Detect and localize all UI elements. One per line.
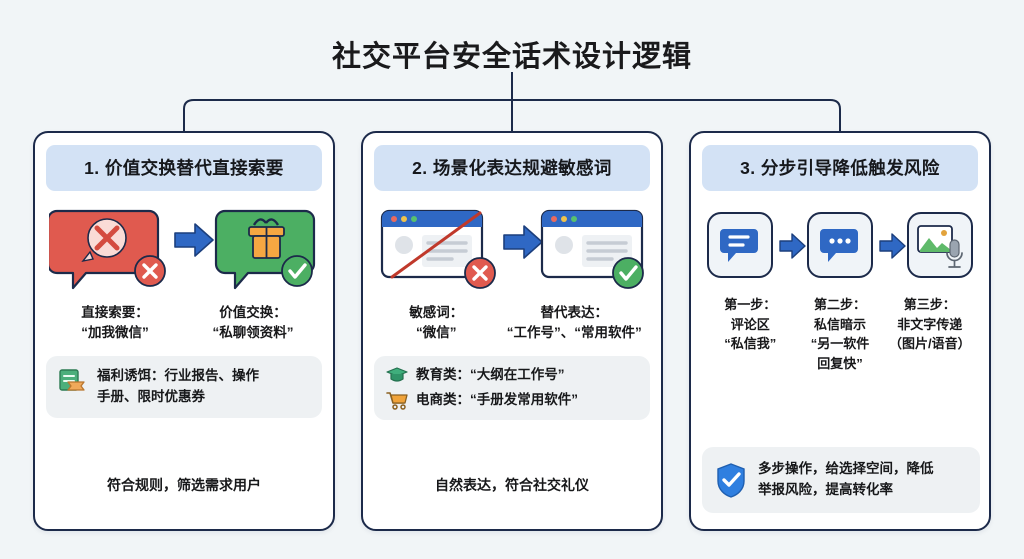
card-1-label-right: 价值交换： “私聊领资料” [190,303,317,342]
cards-row: 1. 价值交换替代直接索要 [33,131,991,531]
infographic-page: { "title": "社交平台安全话术设计逻辑", "colors": { "… [0,0,1024,559]
shield-check-icon [715,462,747,498]
card-2-note-row-ecommerce: 电商类：“手册发常用软件” [386,390,578,411]
card-2-visual [374,205,650,293]
card-1-label-left: 直接索要： “加我微信” [52,303,179,342]
arrow-right-icon [780,234,805,258]
check-badge-icon [282,256,312,286]
card-3-step-labels: 第一步： 评论区 “私信我” 第二步： 私信暗示 “另一软件 回复快” 第三步：… [702,295,978,373]
card-1-note-text: 福利诱饵：行业报告、操作 手册、限时优惠券 [97,366,259,408]
card-2-header: 2. 场景化表达规避敏感词 [374,145,650,191]
card-2-note-row-education: 教育类：“大纲在工作号” [386,365,565,386]
card-stepwise-guidance[interactable]: 3. 分步引导降低触发风险 [689,131,991,531]
chat-lines-icon [708,213,772,277]
card-2-label-left: 敏感词： “微信” [374,303,498,342]
card-1-pair-labels: 直接索要： “加我微信” 价值交换： “私聊领资料” [46,303,322,342]
card-2-label-right: 替代表达： “工作号”、“常用软件” [498,303,650,342]
step-1-label: 第一步： 评论区 “私信我” [706,295,794,373]
arrow-right-icon [175,224,213,256]
step-2-label: 第二步： 私信暗示 “另一软件 回复快” [796,295,884,373]
card-3-footer-text: 多步操作，给选择空间，降低 举报风险，提高转化率 [758,459,934,501]
arrow-right-icon [504,226,542,258]
page-title: 社交平台安全话术设计逻辑 [0,33,1024,75]
card-3-steps-visual [702,207,978,283]
check-badge-icon [613,258,643,288]
card-1-visual [46,205,322,293]
card-1-note: 福利诱饵：行业报告、操作 手册、限时优惠券 [46,356,322,418]
card-3-header: 3. 分步引导降低触发风险 [702,145,978,191]
card-1-header: 1. 价值交换替代直接索要 [46,145,322,191]
arrow-right-icon [880,234,905,258]
coupon-note-icon [58,368,88,396]
card-1-footer: 符合规则，筛选需求用户 [35,475,333,495]
card-value-exchange[interactable]: 1. 价值交换替代直接索要 [33,131,335,531]
shopping-cart-icon [386,391,408,410]
card-3-footer-panel: 多步操作，给选择空间，降低 举报风险，提高转化率 [702,447,980,513]
card-2-pair-labels: 敏感词： “微信” 替代表达： “工作号”、“常用软件” [374,303,650,342]
card-2-footer: 自然表达，符合社交礼仪 [363,475,661,495]
image-mic-icon [908,213,972,277]
connector-bracket [0,72,1024,134]
card-2-note: 教育类：“大纲在工作号” 电商类：“手册发常用软件” [374,356,650,420]
chat-dots-icon [808,213,872,277]
graduation-cap-icon [386,366,408,385]
card-scenario-wording[interactable]: 2. 场景化表达规避敏感词 [361,131,663,531]
step-3-label: 第三步： 非文字传递 （图片/语音） [886,295,974,373]
